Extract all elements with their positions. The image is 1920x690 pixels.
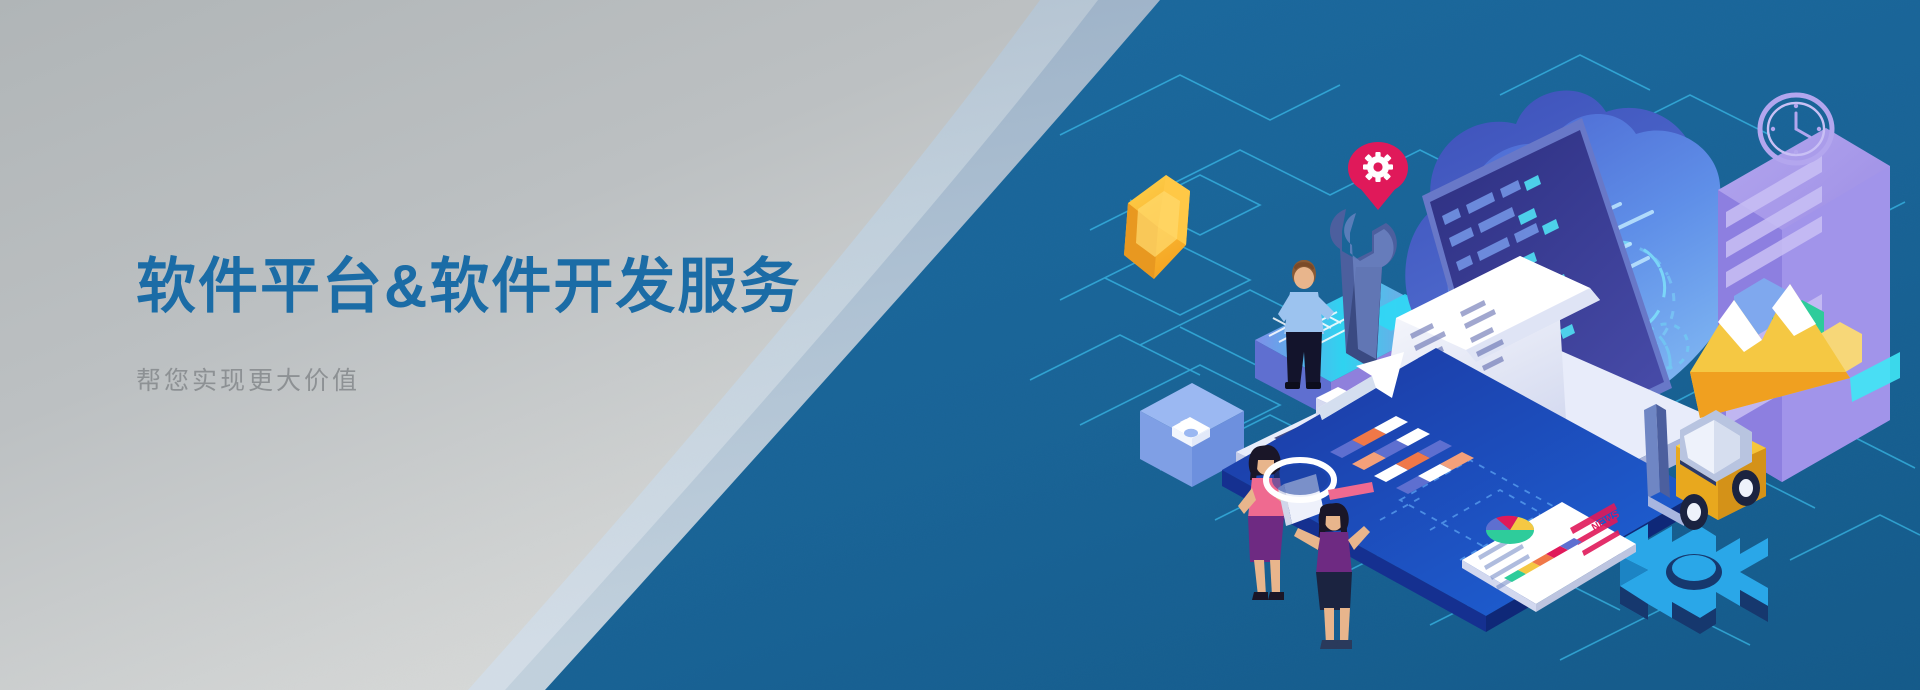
gear-large-icon [1620,524,1768,634]
clock-icon [1760,95,1832,163]
pie-chart-icon [1486,516,1534,544]
page-subtitle: 帮您实现更大价值 [136,365,956,398]
gear-badge-icon [1348,142,1408,210]
banner-copy: 软件平台&软件开发服务 帮您实现更大价值 [136,252,956,398]
hero-banner: NEWS [0,0,1920,690]
page-title: 软件平台&软件开发服务 [136,252,956,321]
